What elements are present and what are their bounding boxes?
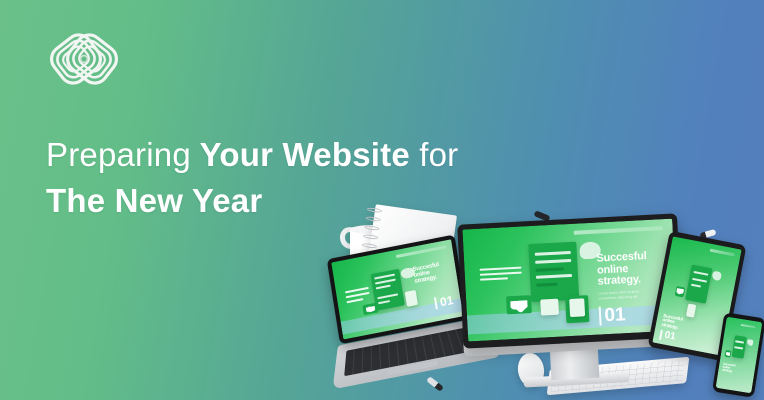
stylus-bottom [426, 376, 444, 392]
monitor-small-card-c [569, 298, 585, 317]
monitor-text-lines [479, 267, 522, 284]
phone-heart-icon [725, 350, 732, 358]
laptop-heart-icon [363, 303, 379, 316]
monitor-heart-icon [506, 296, 532, 315]
logo-center-dot [81, 56, 88, 63]
tablet-heart-icon [674, 285, 686, 297]
tablet-headline-3: strategy. [661, 322, 679, 330]
phone-screen-nav [741, 324, 756, 328]
interlocking-squares-icon [42, 28, 126, 90]
tablet-main-card [685, 264, 713, 304]
laptop-step-number: 01 [434, 293, 454, 308]
tablet-screen-nav [710, 249, 735, 256]
monitor-screen-subtext: Lorem ipsum dolor sit amet consectetur a… [598, 289, 661, 301]
laptop-text-lines [344, 287, 370, 306]
monitor-subtext-2: consectetur adipiscing elit. [598, 295, 638, 301]
headline-word-for: for [419, 136, 458, 173]
devices-illustration: Succesful online strategy. 01 [318, 205, 764, 400]
headline-word-preparing: Preparing [46, 136, 191, 173]
phone-screen-headline: Succesful online strategy. [722, 363, 748, 376]
laptop-screen-headline: Succesful online strategy. [412, 260, 451, 285]
tablet-step-number: 01 [659, 329, 677, 342]
phone-chat-bubble [746, 339, 753, 346]
monitor-screen: Succesful online strategy. Lorem ipsum d… [462, 219, 678, 342]
tablet-chat-bubble [712, 271, 723, 281]
monitor-screen-nav [574, 226, 662, 235]
headline-line-1: Preparing Your Website for [46, 132, 458, 178]
tablet-small-card [686, 303, 697, 317]
laptop-side-card [405, 290, 418, 307]
phone-headline-3: strategy. [722, 368, 733, 374]
desktop-monitor: Succesful online strategy. Lorem ipsum d… [457, 213, 685, 376]
monitor-screen-headline: Succesful online strategy. [596, 250, 669, 287]
monitor-small-card-a [540, 299, 560, 316]
laptop-screen-nav [395, 245, 446, 258]
monitor-bezel: Succesful online strategy. Lorem ipsum d… [457, 213, 683, 348]
promo-banner: Preparing Your Website for The New Year [0, 0, 764, 400]
monitor-headline-3: strategy. [597, 273, 641, 287]
monitor-main-card [528, 242, 579, 303]
headline-word-your-website: Your Website [200, 136, 410, 173]
phone-screen: Succesful online strategy. [716, 317, 763, 394]
monitor-neck [550, 348, 600, 380]
brand-logo[interactable] [42, 28, 126, 90]
monitor-step-number: 01 [599, 305, 626, 325]
